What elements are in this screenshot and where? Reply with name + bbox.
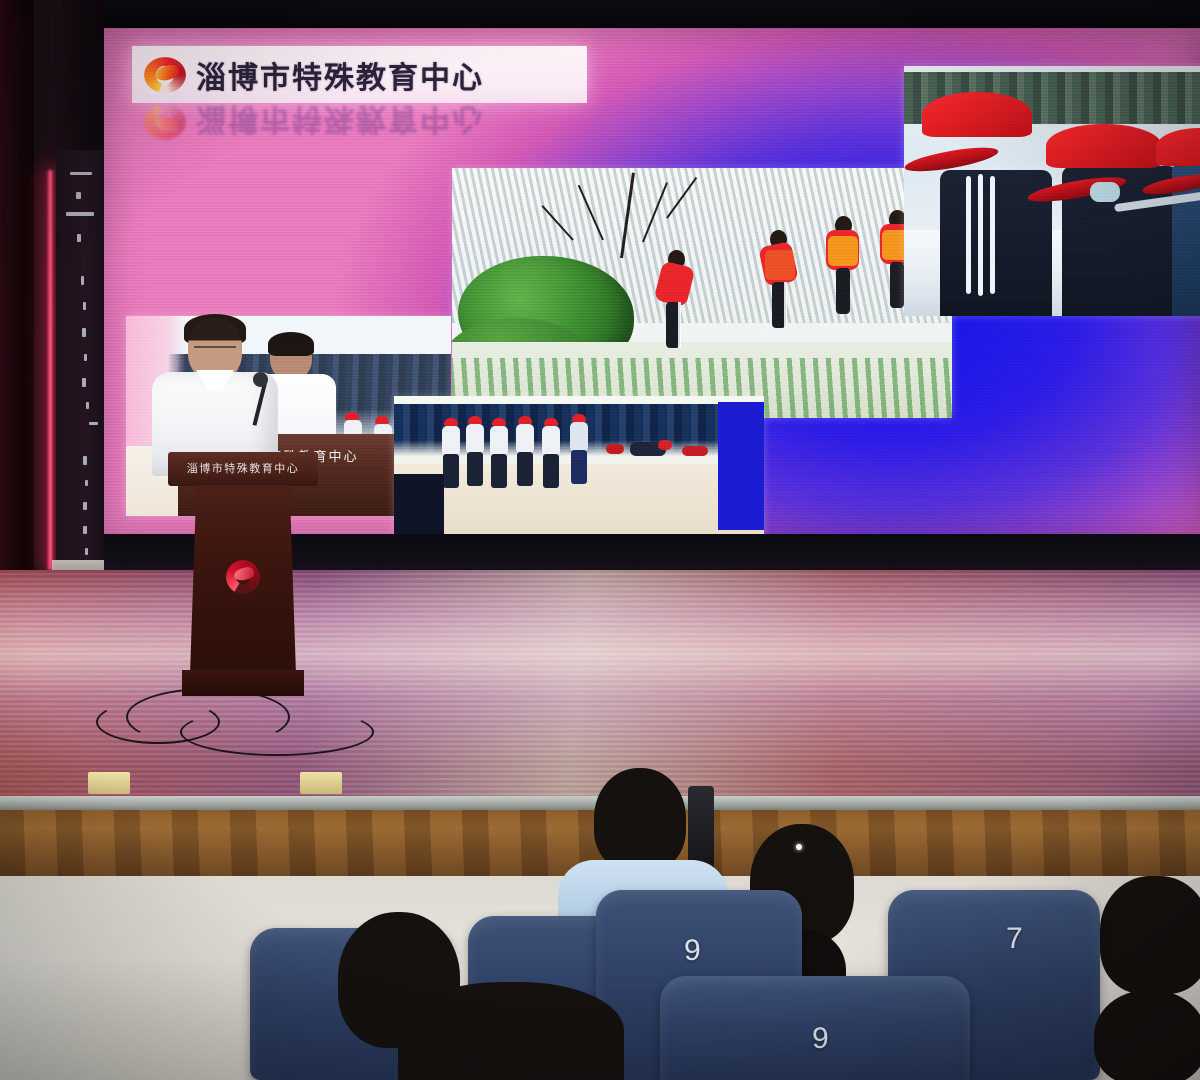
audience-person <box>398 982 628 1080</box>
red-swirl-logo-icon <box>142 55 188 95</box>
speaker-person <box>150 318 280 468</box>
audience-person <box>1094 990 1200 1080</box>
podium-top: 淄博市特殊教育中心 <box>168 452 318 486</box>
screen-banner: 淄博市特殊教育中心 <box>132 46 587 103</box>
stage-floor-block <box>88 772 130 794</box>
banner-title-reflection: 淄博市特殊教育中心 <box>196 104 484 140</box>
seat-number: 7 <box>1006 922 1023 956</box>
photo-students-lineup <box>394 396 764 538</box>
red-cap <box>922 92 1032 170</box>
audience-person <box>1100 876 1200 996</box>
stage-curtain <box>0 0 34 580</box>
eyeglasses-icon <box>194 346 236 356</box>
floor-cable <box>180 708 374 756</box>
face-mask <box>1090 182 1120 202</box>
banner-reflection: 淄博市特殊教育中心 <box>132 104 587 140</box>
red-cap <box>1156 128 1200 194</box>
photo-red-caps-closeup: PRT <box>904 66 1200 316</box>
seat-number: 9 <box>684 934 701 968</box>
screen-top-frame <box>104 0 1200 28</box>
audience-person <box>570 768 710 908</box>
stage-floor-block <box>300 772 342 794</box>
photo-volunteers-field <box>452 168 952 418</box>
podium-base <box>182 670 304 696</box>
auditorium-photo: 淄博市特殊教育中心 淄博市特殊教育中心 淄博市特殊教育中心 <box>0 0 1200 1080</box>
red-swirl-logo-reflection-icon <box>142 104 188 140</box>
seat-number: 9 <box>812 1022 829 1056</box>
microphone-icon <box>253 372 268 387</box>
banner-title: 淄博市特殊教育中心 <box>196 53 484 97</box>
red-light-strip <box>46 170 55 570</box>
podium-label: 淄博市特殊教育中心 <box>168 460 318 476</box>
podium: 淄博市特殊教育中心 <box>168 452 318 696</box>
